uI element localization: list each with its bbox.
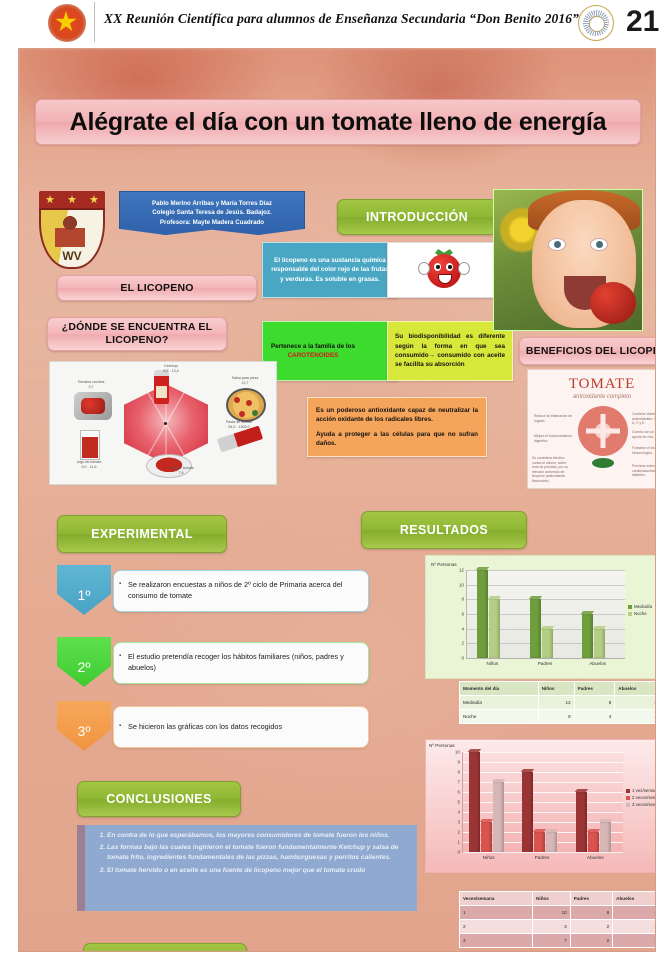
- bar-group: [522, 772, 557, 852]
- cooked-tomatoes-icon: [74, 392, 112, 420]
- section-header-el-licopeno: EL LICOPENO: [57, 275, 257, 301]
- poster-canvas: Alégrate el día con un tomate lleno de e…: [18, 48, 656, 952]
- y-axis-tick: 7: [457, 780, 460, 785]
- table-row: Noche844: [460, 710, 657, 724]
- y-axis-tick: 6: [457, 790, 460, 795]
- tomato-paste-icon: [217, 426, 263, 453]
- lyco-node-pasta-tomate: Pasta de tomate 54,0 - 1500,0: [216, 420, 262, 429]
- conclusiones-panel: En contra de lo que esperábamos, los may…: [77, 825, 417, 911]
- intro-box-antioxidante: Es un poderoso antioxidante capaz de neu…: [307, 397, 487, 457]
- section-header-experimental: EXPERIMENTAL: [57, 515, 227, 553]
- table-cell: 10: [533, 906, 571, 920]
- conference-title: XX Reunión Científica para alumnos de En…: [104, 11, 524, 27]
- infographic-note: Fortalece el sistema inmunológico.: [632, 446, 656, 455]
- poster-title-text: Alégrate el día con un tomate lleno de e…: [70, 108, 607, 137]
- bar: [542, 629, 553, 658]
- step-body: Se hicieron las gráficas con los datos r…: [113, 706, 369, 748]
- bar: [576, 792, 587, 852]
- table-column-header: Abuelos: [613, 892, 656, 906]
- infographic-note: Contiene vitaminas antioxidantes: Vitami…: [632, 412, 656, 426]
- table-column-header: Momento del día: [460, 682, 539, 696]
- conclusiones-list: En contra de lo que esperábamos, los may…: [85, 825, 417, 884]
- infographic-title: TOMATE: [528, 376, 656, 393]
- list-item: En contra de lo que esperábamos, los may…: [107, 831, 409, 841]
- leaf-icon: [592, 458, 614, 468]
- chart-1-legend: Mediodía Noche: [628, 604, 652, 618]
- table-cell: 4: [615, 710, 656, 724]
- bar: [493, 782, 504, 852]
- authors-line-1: Pablo Merino Arribas y María Torres Díaz: [152, 199, 272, 209]
- poster-title: Alégrate el día con un tomate lleno de e…: [35, 99, 641, 145]
- authors-banner: Pablo Merino Arribas y María Torres Díaz…: [119, 191, 305, 235]
- section-header-resultados: RESULTADOS: [361, 511, 527, 549]
- legend-label: Mediodía: [634, 604, 652, 609]
- intro-box-text: Pertenece a la familia de los CAROTENOID…: [271, 342, 355, 361]
- bar: [588, 832, 599, 852]
- y-axis-tick: 9: [457, 760, 460, 765]
- bar: [477, 570, 488, 658]
- chart-veces-por-semana: Nº Personas 012345678910 1 vez/semana 2 …: [425, 739, 656, 873]
- table-column-header: Veces/semana: [460, 892, 533, 906]
- section-label: ¿DÓNDE SE ENCUENTRA EL LICOPENO?: [48, 321, 226, 346]
- table-cell: 2: [460, 920, 533, 934]
- crest-monogram: WV: [39, 249, 105, 263]
- y-axis-tick: 5: [457, 800, 460, 805]
- header-divider: [94, 2, 95, 42]
- table-header-row: Veces/semanaNiñosPadresAbuelos: [460, 892, 657, 906]
- table-cell: 12: [538, 696, 574, 710]
- table-cell: 2: [570, 920, 612, 934]
- step-number: 1º: [78, 587, 91, 615]
- y-axis-tick: 8: [457, 770, 460, 775]
- bar: [594, 629, 605, 658]
- infographic-note: Reduce la inflamación de hígado.: [534, 414, 574, 423]
- tomato-juice-icon: [80, 430, 100, 460]
- section-header-introduccion: INTRODUCCIÓN: [337, 199, 497, 235]
- bar: [530, 599, 541, 658]
- table-cell: 3: [460, 934, 533, 948]
- infographic-subtitle: antioxidante completo: [528, 394, 656, 400]
- school-crest-icon: WV: [39, 191, 105, 269]
- child-eating-tomato-photo: [493, 189, 643, 331]
- table-cell: 1: [460, 906, 533, 920]
- section-header-beneficios: BENEFICIOS DEL LICOPENO: [519, 337, 656, 365]
- section-label: RESULTADOS: [400, 523, 488, 537]
- gridline: [463, 852, 623, 853]
- table-cell: 2: [570, 934, 612, 948]
- y-axis-tick: 10: [459, 582, 464, 587]
- y-axis-tick: 8: [461, 597, 464, 602]
- tomate-antioxidante-infographic: TOMATE antioxidante completo Reduce la i…: [527, 369, 656, 489]
- section-label: INTRODUCCIÓN: [366, 210, 468, 224]
- step-body: Se realizaron encuestas a niños de 2º ci…: [113, 570, 369, 612]
- experimental-step-2: 2º El estudio pretendía recoger los hábi…: [57, 637, 369, 687]
- table-cell: 2: [613, 920, 656, 934]
- legend-label: Noche: [634, 611, 647, 616]
- step-number-chevron: 2º: [57, 637, 111, 687]
- lycopene-sources-hexagon-diagram: Ketchup 9,9 - 13,4 Salsa para pizza 12,7…: [49, 361, 277, 485]
- table-cell: 7: [533, 934, 571, 948]
- bar: [582, 614, 593, 658]
- table-column-header: Niños: [533, 892, 571, 906]
- experimental-step-3: 3º Se hicieron las gráficas con los dato…: [57, 701, 369, 751]
- step-number: 2º: [78, 659, 91, 687]
- intro-box-text: Su biodisponibilidad es diferente según …: [395, 332, 505, 370]
- infographic-note: Previene enfermedades cardiovasculares y…: [632, 464, 656, 478]
- intro-box-text: El licopeno es una sustancia química res…: [271, 256, 389, 284]
- star-emblem-icon: [48, 4, 86, 40]
- section-label: BENEFICIOS DEL LICOPENO: [526, 345, 656, 358]
- bar: [546, 832, 557, 852]
- legend-label: 1 vez/semana: [632, 788, 656, 793]
- tomato-cross-section-icon: [578, 406, 628, 456]
- table-cell: 6: [615, 696, 656, 710]
- x-axis-tick: Niños: [483, 855, 495, 860]
- intro-box-definicion: El licopeno es una sustancia química res…: [262, 242, 398, 298]
- y-axis-tick: 4: [461, 626, 464, 631]
- bar-group: [576, 792, 611, 852]
- infographic-note: Se considera efectivo contra el cáncer, …: [532, 456, 572, 484]
- x-axis-tick: Abuelos: [587, 855, 604, 860]
- bar: [469, 752, 480, 852]
- bar-group: [469, 752, 504, 852]
- x-axis-tick: Niños: [486, 661, 498, 666]
- carotenoides-prefix: Pertenece a la familia de los: [271, 343, 355, 350]
- authors-line-2: Colegio Santa Teresa de Jesús. Badajoz.: [152, 208, 272, 218]
- bar: [481, 822, 492, 852]
- step-text: El estudio pretendía recoger los hábitos…: [128, 652, 358, 673]
- page-header: XX Reunión Científica para alumnos de En…: [0, 0, 672, 44]
- x-axis-tick: Padres: [538, 661, 553, 666]
- table-cell: 8: [570, 906, 612, 920]
- table-cell: 4: [574, 710, 615, 724]
- table-row: 3723: [460, 934, 657, 948]
- experimental-step-1: 1º Se realizaron encuestas a niños de 2º…: [57, 565, 369, 615]
- bar-group: [582, 614, 605, 658]
- table-column-header: Padres: [570, 892, 612, 906]
- intro-box-text-1: Es un poderoso antioxidante capaz de neu…: [316, 406, 478, 425]
- step-body: El estudio pretendía recoger los hábitos…: [113, 642, 369, 684]
- table-veces-por-semana: Veces/semanaNiñosPadresAbuelos1108623223…: [459, 891, 656, 948]
- table-column-header: Niños: [538, 682, 574, 696]
- y-axis-tick: 6: [461, 612, 464, 617]
- y-axis-tick: 1: [457, 840, 460, 845]
- table-row: 2322: [460, 920, 657, 934]
- step-number: 3º: [78, 723, 91, 751]
- step-text: Se hicieron las gráficas con los datos r…: [128, 722, 282, 733]
- section-label: EL LICOPENO: [120, 282, 193, 295]
- section-label: EXPERIMENTAL: [91, 527, 193, 541]
- lyco-node-sopa-tomate: Sopa de tomate 7,9: [158, 466, 204, 475]
- table-row: 11086: [460, 906, 657, 920]
- intro-box-tomato-image: [387, 242, 499, 298]
- bar: [600, 822, 611, 852]
- table-header-row: Momento del díaNiñosPadresAbuelos: [460, 682, 657, 696]
- table-cell: 6: [613, 906, 656, 920]
- intro-box-text-2: Ayuda a proteger a las células para que …: [316, 430, 478, 449]
- table-cell: 3: [613, 934, 656, 948]
- infographic-note: Mejora el funcionamiento digestivo.: [534, 434, 574, 443]
- lyco-node-salsa-pizza: Salsa para pizza 12,7: [222, 376, 268, 385]
- chart-1-ylabel: Nº Personas: [431, 562, 457, 567]
- table-cell: 8: [538, 710, 574, 724]
- chart-1-plot-area: 024681012: [466, 570, 625, 659]
- infographic-note: Cuenta con un buen aporte de zinc.: [632, 430, 656, 439]
- section-header-bibliografia: BIBLIOGRAFÍA: [83, 943, 247, 952]
- y-axis-tick: 0: [457, 850, 460, 855]
- bar: [534, 832, 545, 852]
- lyco-node-jugo-tomate: Jugo de tomate 9,0 - 11,6: [66, 460, 112, 469]
- page-number: 21: [626, 5, 659, 39]
- table-cell: Mediodía: [460, 696, 539, 710]
- intro-box-carotenoides: Pertenece a la familia de los CAROTENOID…: [262, 321, 398, 381]
- legend-label: 2 veces/semana: [632, 795, 656, 800]
- step-number-chevron: 3º: [57, 701, 111, 751]
- sunburst-seal-icon: [578, 5, 614, 41]
- x-axis-tick: Abuelos: [589, 661, 606, 666]
- step-number-chevron: 1º: [57, 565, 111, 615]
- table-column-header: Padres: [574, 682, 615, 696]
- table-row: Mediodía1286: [460, 696, 657, 710]
- section-header-donde-se-encuentra: ¿DÓNDE SE ENCUENTRA EL LICOPENO?: [47, 317, 227, 351]
- lyco-node-ketchup: Ketchup 9,9 - 13,4: [148, 364, 194, 373]
- bar-group: [530, 599, 553, 658]
- bar: [522, 772, 533, 852]
- y-axis-tick: 2: [461, 641, 464, 646]
- cartoon-tomato-icon: [417, 248, 469, 292]
- list-item: El tomate hervido o en aceite es una fue…: [107, 866, 409, 876]
- gridline: [467, 658, 625, 659]
- chart-2-legend: 1 vez/semana 2 veces/semana 3 veces/sema…: [626, 788, 656, 809]
- y-axis-tick: 4: [457, 810, 460, 815]
- y-axis-tick: 10: [455, 750, 460, 755]
- table-cell: 3: [533, 920, 571, 934]
- y-axis-tick: 3: [457, 820, 460, 825]
- table-momento-del-dia: Momento del díaNiñosPadresAbuelosMediodí…: [459, 681, 656, 724]
- bar-group: [477, 570, 500, 658]
- bar: [489, 599, 500, 658]
- x-axis-tick: Padres: [535, 855, 550, 860]
- authors-line-3: Profesora: Mayte Madera Cuadrado: [160, 218, 264, 228]
- chart-momento-del-dia: Nº Personas 024681012 Mediodía Noche Niñ…: [425, 555, 656, 679]
- list-item: Las formas bajo las cuales ingirieron el…: [107, 843, 409, 863]
- legend-label: 3 veces/semana: [632, 802, 656, 807]
- y-axis-tick: 0: [461, 656, 464, 661]
- chart-2-plot-area: 012345678910: [462, 752, 623, 853]
- carotenoides-highlight: CAROTENOIDES: [288, 352, 339, 359]
- pizza-icon: [226, 388, 266, 422]
- y-axis-tick: 2: [457, 830, 460, 835]
- section-header-conclusiones: CONCLUSIONES: [77, 781, 241, 817]
- y-axis-tick: 12: [459, 568, 464, 573]
- lyco-node-tomates-cocidos: Tomates cocidos 3,7: [68, 380, 114, 389]
- table-cell: 8: [574, 696, 615, 710]
- chart-2-ylabel: Nº Personas: [429, 743, 463, 748]
- section-label: CONCLUSIONES: [106, 792, 212, 806]
- table-column-header: Abuelos: [615, 682, 656, 696]
- table-cell: Noche: [460, 710, 539, 724]
- ketchup-bottle-icon: [154, 370, 169, 404]
- step-text: Se realizaron encuestas a niños de 2º ci…: [128, 580, 358, 601]
